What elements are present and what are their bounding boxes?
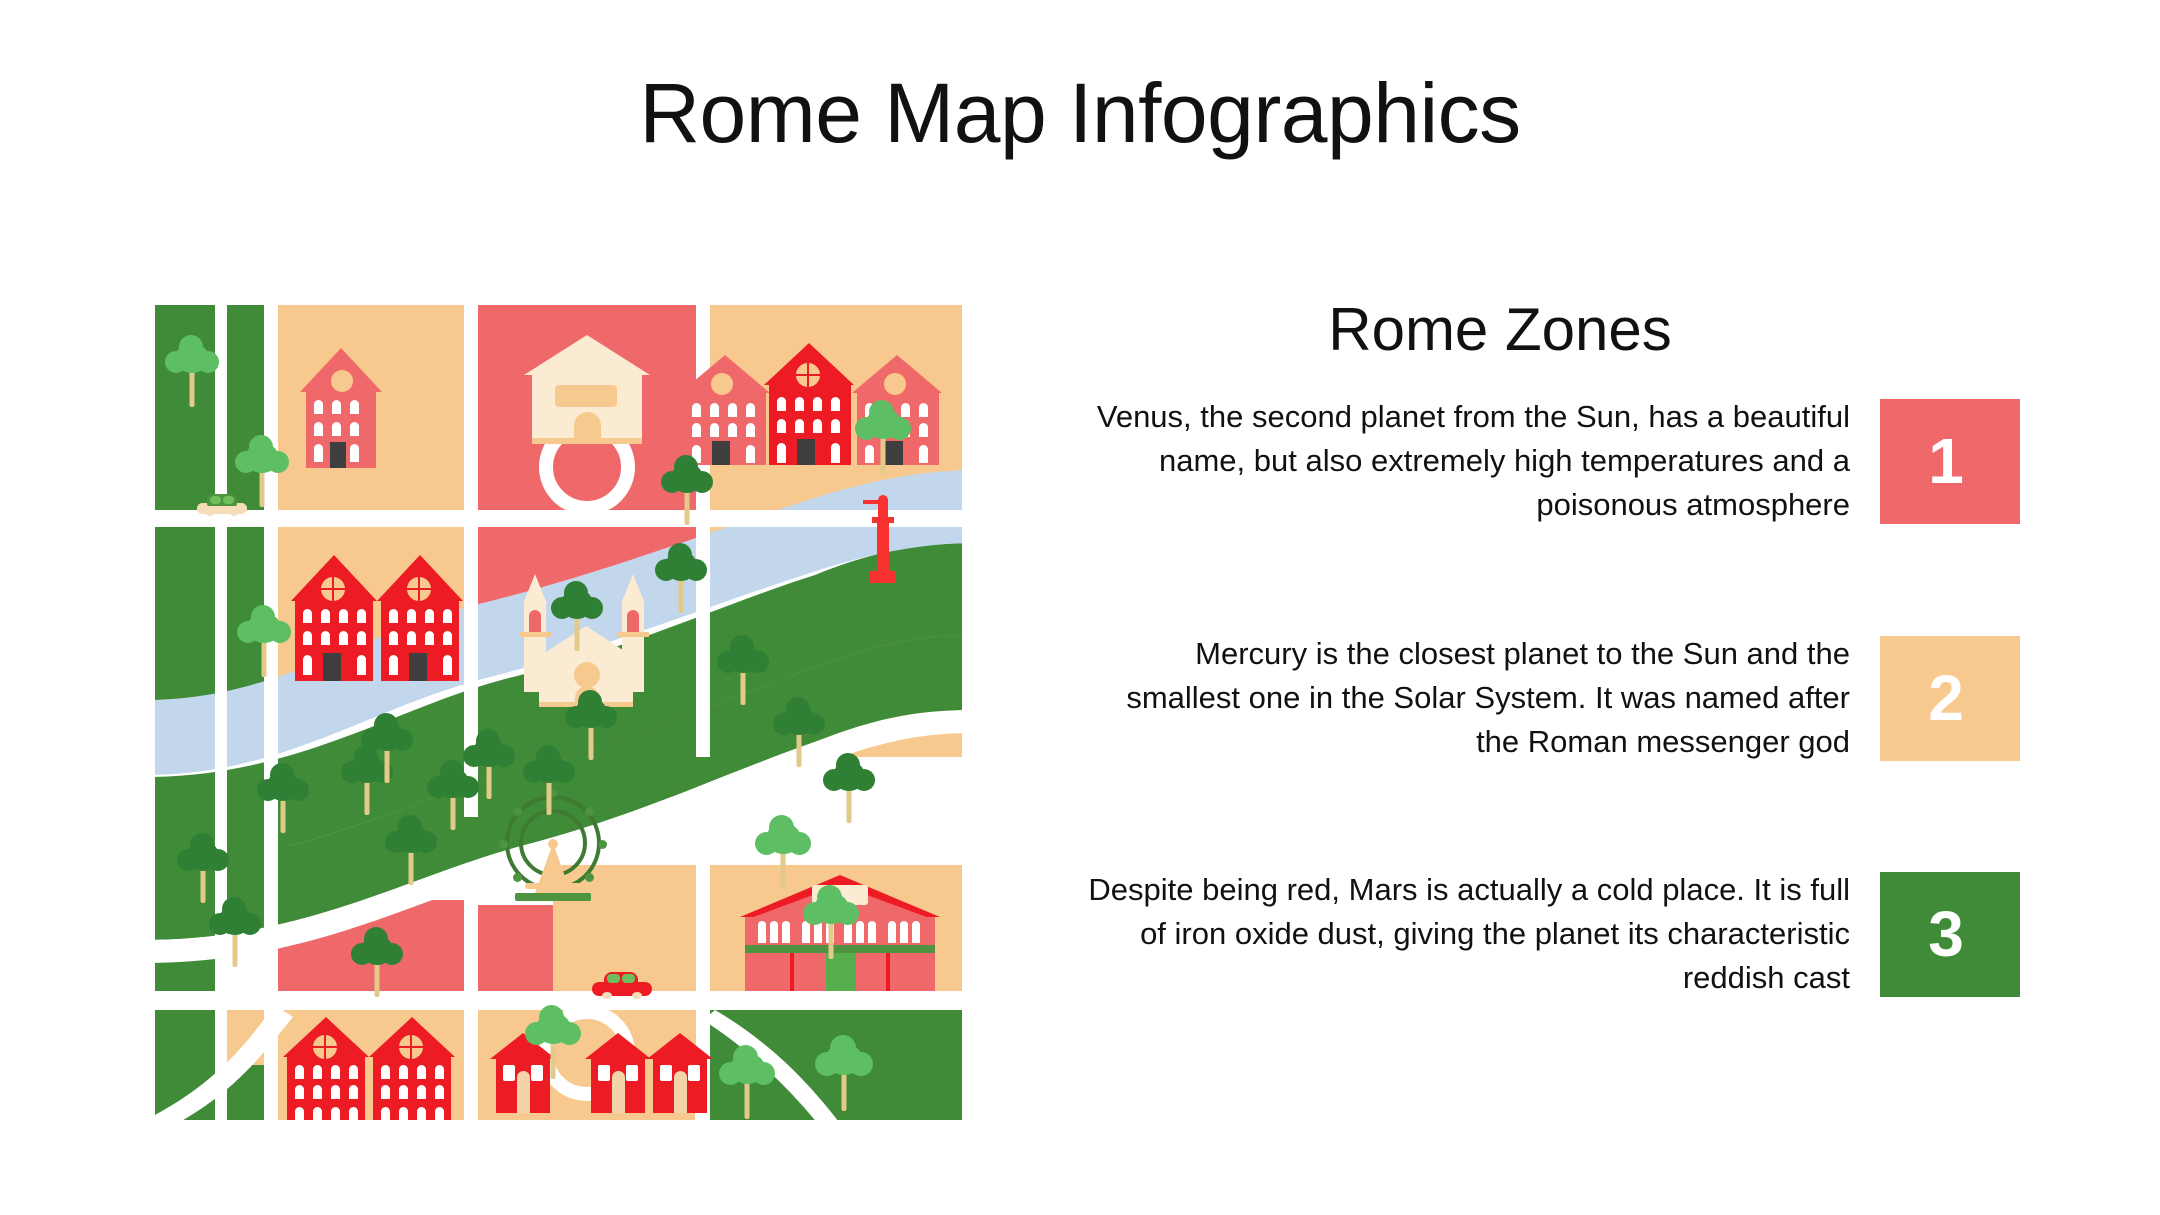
map-tree bbox=[165, 335, 219, 407]
map-tree bbox=[463, 729, 515, 799]
map-tree bbox=[655, 543, 707, 613]
zone-row-2: Mercury is the closest planet to the Sun… bbox=[1085, 632, 2020, 764]
zone-badge-3[interactable]: 3 bbox=[1880, 872, 2020, 997]
zone-row-3: Despite being red, Mars is actually a co… bbox=[1085, 868, 2020, 1000]
map-tree bbox=[209, 897, 261, 967]
map-building-twin-house bbox=[291, 555, 461, 685]
map-building-small-house bbox=[585, 1033, 650, 1113]
map-tree bbox=[755, 815, 811, 889]
map-tree bbox=[235, 435, 289, 507]
map-tree bbox=[177, 833, 229, 903]
map-tree bbox=[773, 697, 825, 767]
zone-badge-1[interactable]: 1 bbox=[1880, 399, 2020, 524]
map-building-house bbox=[300, 348, 382, 468]
rome-map-illustration bbox=[155, 305, 962, 1120]
page-title: Rome Map Infographics bbox=[0, 65, 2160, 161]
zone-description: Venus, the second planet from the Sun, h… bbox=[1085, 395, 1850, 527]
map-tree bbox=[823, 753, 875, 823]
map-tree bbox=[361, 713, 413, 783]
map-tree bbox=[257, 763, 309, 833]
map-tree bbox=[717, 635, 769, 705]
map-tree bbox=[525, 1005, 581, 1079]
zone-number: 3 bbox=[1928, 897, 1964, 971]
map-tree bbox=[351, 927, 403, 997]
zone-number: 1 bbox=[1928, 424, 1964, 498]
map-tree bbox=[719, 1045, 775, 1119]
map-car-red bbox=[592, 972, 652, 998]
zone-description: Despite being red, Mars is actually a co… bbox=[1085, 868, 1850, 1000]
map-tree bbox=[237, 605, 291, 677]
map-tree bbox=[855, 400, 911, 474]
map-tree bbox=[551, 581, 603, 651]
map-building-temple bbox=[520, 335, 655, 445]
zone-number: 2 bbox=[1928, 661, 1964, 735]
map-tree bbox=[803, 885, 859, 959]
map-tree bbox=[815, 1035, 873, 1111]
map-tree bbox=[565, 690, 617, 760]
map-building-small-house bbox=[647, 1033, 712, 1113]
map-tree bbox=[661, 455, 713, 525]
zone-description: Mercury is the closest planet to the Sun… bbox=[1085, 632, 1850, 764]
map-monument-column bbox=[855, 495, 911, 593]
map-building-twin-house bbox=[283, 1017, 453, 1120]
panel-heading: Rome Zones bbox=[1100, 295, 1900, 365]
slide-root: Rome Map Infographics bbox=[0, 0, 2160, 1215]
zone-row-1: Venus, the second planet from the Sun, h… bbox=[1085, 395, 2020, 527]
zone-badge-2[interactable]: 2 bbox=[1880, 636, 2020, 761]
